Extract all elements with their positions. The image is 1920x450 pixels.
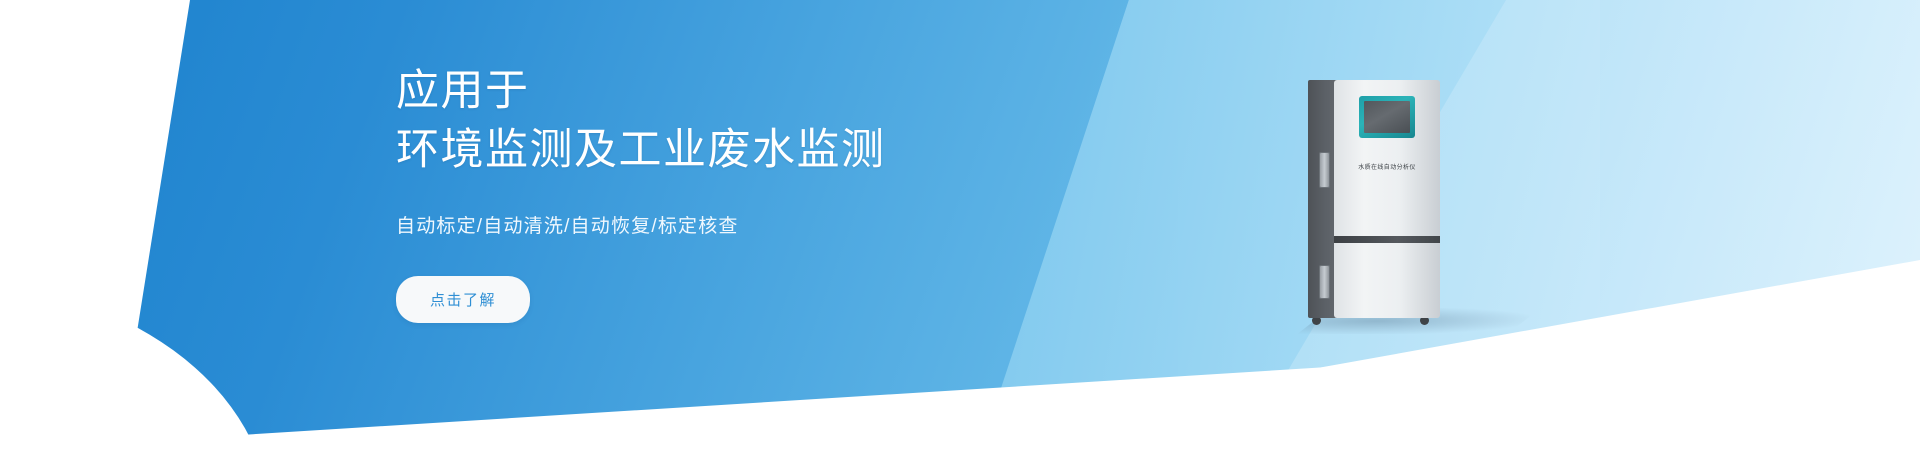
device-handle-upper bbox=[1319, 152, 1330, 188]
hero-copy-block: 应用于 环境监测及工业废水监测 自动标定/自动清洗/自动恢复/标定核查 点击了解 bbox=[396, 62, 1156, 323]
hero-headline: 应用于 环境监测及工业废水监测 bbox=[396, 62, 1156, 181]
learn-more-button[interactable]: 点击了解 bbox=[396, 276, 530, 323]
device-lower-cabinet-door bbox=[1334, 242, 1440, 318]
device-cabinet-divider bbox=[1334, 236, 1440, 243]
device-nameplate-label: 水质在线自动分析仪 bbox=[1334, 162, 1440, 171]
device-handle-lower bbox=[1319, 265, 1330, 299]
hero-banner: 应用于 环境监测及工业废水监测 自动标定/自动清洗/自动恢复/标定核查 点击了解… bbox=[0, 0, 1920, 450]
water-quality-analyzer-image: 水质在线自动分析仪 bbox=[1308, 80, 1440, 318]
device-display-screen bbox=[1359, 96, 1415, 138]
device-display-glass bbox=[1364, 101, 1410, 133]
hero-subheadline: 自动标定/自动清洗/自动恢复/标定核查 bbox=[396, 211, 1156, 238]
